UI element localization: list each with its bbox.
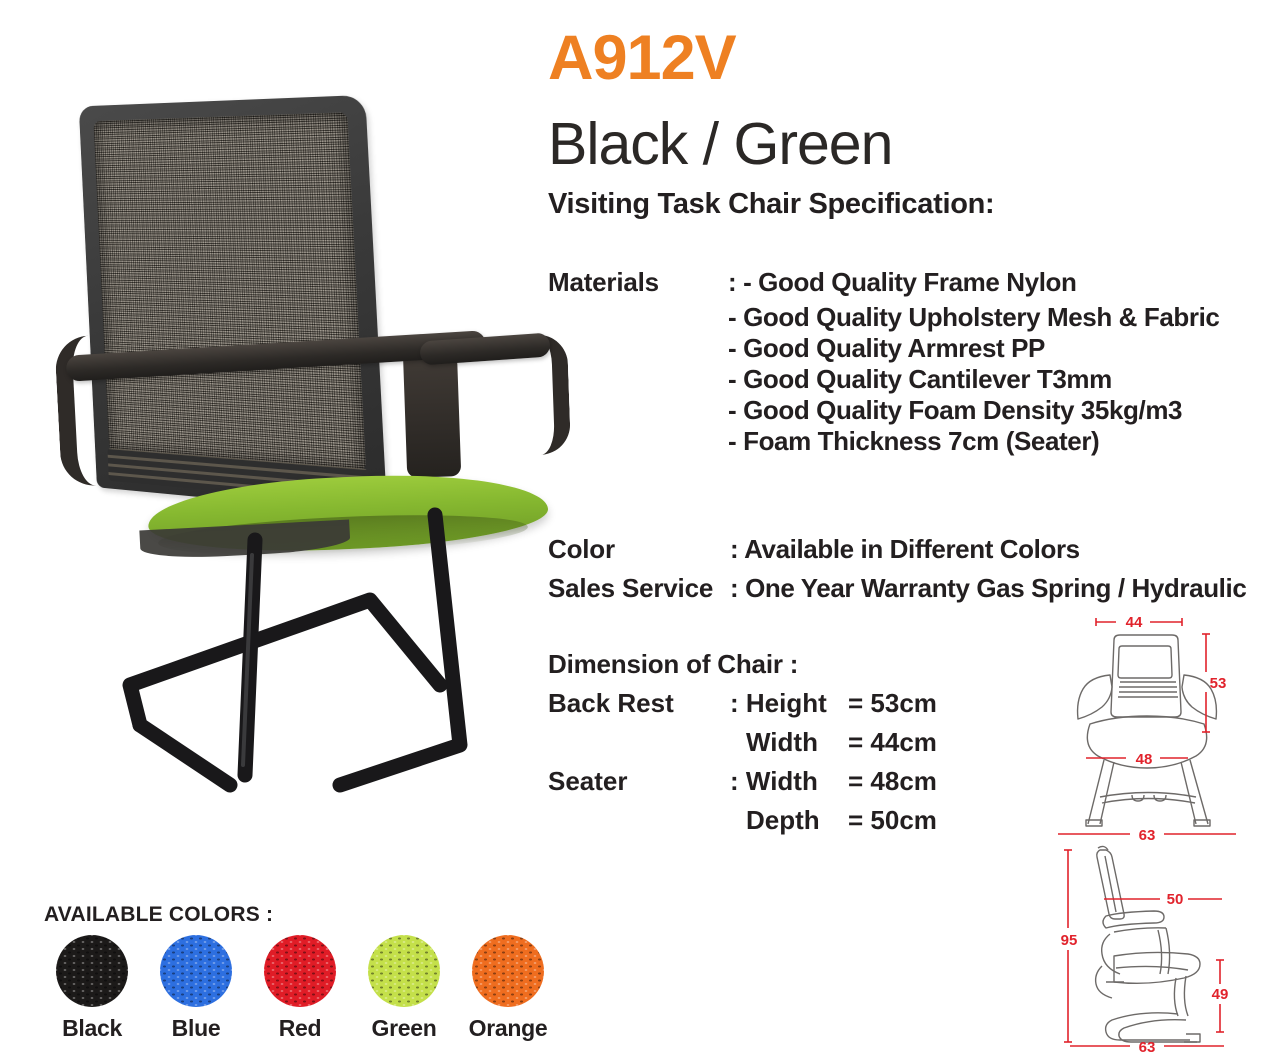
side-dim-top: 50 <box>1167 891 1184 908</box>
materials-item: - Good Quality Armrest PP <box>548 333 1278 364</box>
color-row: Color : Available in Different Colors <box>548 530 1278 569</box>
color-swatch-red[interactable]: Red <box>248 935 352 1042</box>
dimension-key: Width <box>730 723 848 762</box>
dimension-part <box>548 723 730 762</box>
color-service-block: Color : Available in Different Colors Sa… <box>548 530 1278 608</box>
side-dim-right: 49 <box>1212 986 1229 1003</box>
dimensions-block: Dimension of Chair : Back Rest : Height … <box>548 645 1068 840</box>
dimension-part: Back Rest <box>548 684 730 723</box>
dimension-row: Depth = 50cm <box>548 801 1068 840</box>
product-photo <box>40 85 550 785</box>
materials-item: - Good Quality Foam Density 35kg/m3 <box>548 395 1278 426</box>
swatch-label: Blue <box>144 1015 248 1042</box>
swatch-dot-red[interactable] <box>264 935 336 1007</box>
swatch-dot-blue[interactable] <box>160 935 232 1007</box>
color-label: Color <box>548 530 730 569</box>
front-dim-top: 44 <box>1126 614 1143 631</box>
color-value: : Available in Different Colors <box>730 530 1080 569</box>
color-swatch-blue[interactable]: Blue <box>144 935 248 1042</box>
chair-illustration <box>40 85 550 785</box>
side-dim-bottom: 63 <box>1139 1039 1156 1056</box>
materials-label: Materials <box>548 263 728 302</box>
sales-service-row: Sales Service : One Year Warranty Gas Sp… <box>548 569 1278 608</box>
dimension-row: Back Rest : Height = 53cm <box>548 684 1068 723</box>
dimension-value: = 50cm <box>848 801 937 840</box>
product-spec-sheet: A912V Black / Green Visiting Task Chair … <box>0 0 1281 1063</box>
available-colors-heading: AVAILABLE COLORS : <box>44 903 273 927</box>
swatch-label: Black <box>40 1015 144 1042</box>
materials-item: - Good Quality Upholstery Mesh & Fabric <box>548 302 1278 333</box>
swatch-dot-black[interactable] <box>56 935 128 1007</box>
materials-item: - Foam Thickness 7cm (Seater) <box>548 426 1278 457</box>
color-swatch-black[interactable]: Black <box>40 935 144 1042</box>
product-colorway: Black / Green <box>548 115 892 174</box>
color-swatch-list: Black Blue Red Green Orange <box>40 935 560 1042</box>
dimension-key: : Height <box>730 684 848 723</box>
swatch-label: Orange <box>456 1015 560 1042</box>
spec-section-title: Visiting Task Chair Specification: <box>548 188 994 221</box>
side-dim-left: 95 <box>1061 932 1078 949</box>
materials-row: Materials : - Good Quality Frame Nylon <box>548 263 1278 302</box>
materials-block: Materials : - Good Quality Frame Nylon -… <box>548 263 1278 457</box>
color-swatch-green[interactable]: Green <box>352 935 456 1042</box>
dimension-key: : Width <box>730 762 848 801</box>
side-view-drawing: 95 50 49 63 <box>1048 842 1278 1057</box>
swatch-dot-green[interactable] <box>368 935 440 1007</box>
dimension-value: = 48cm <box>848 762 937 801</box>
dimensions-heading: Dimension of Chair : <box>548 645 1068 684</box>
dimension-value: = 44cm <box>848 723 937 762</box>
dimension-row: Seater : Width = 48cm <box>548 762 1068 801</box>
materials-item: : - Good Quality Frame Nylon <box>728 263 1077 302</box>
sales-service-label: Sales Service <box>548 569 730 608</box>
front-view-drawing: 44 53 48 63 <box>1048 612 1278 842</box>
swatch-dot-orange[interactable] <box>472 935 544 1007</box>
dimension-row: Width = 44cm <box>548 723 1068 762</box>
dimension-value: = 53cm <box>848 684 937 723</box>
swatch-label: Green <box>352 1015 456 1042</box>
dimension-part: Seater <box>548 762 730 801</box>
sales-service-value: : One Year Warranty Gas Spring / Hydraul… <box>730 569 1246 608</box>
swatch-label: Red <box>248 1015 352 1042</box>
color-swatch-orange[interactable]: Orange <box>456 935 560 1042</box>
dimension-key: Depth <box>730 801 848 840</box>
front-dim-right: 53 <box>1210 675 1227 692</box>
materials-item: - Good Quality Cantilever T3mm <box>548 364 1278 395</box>
front-dim-middle: 48 <box>1136 751 1153 768</box>
page-title: A912V <box>548 27 736 90</box>
dimension-part <box>548 801 730 840</box>
